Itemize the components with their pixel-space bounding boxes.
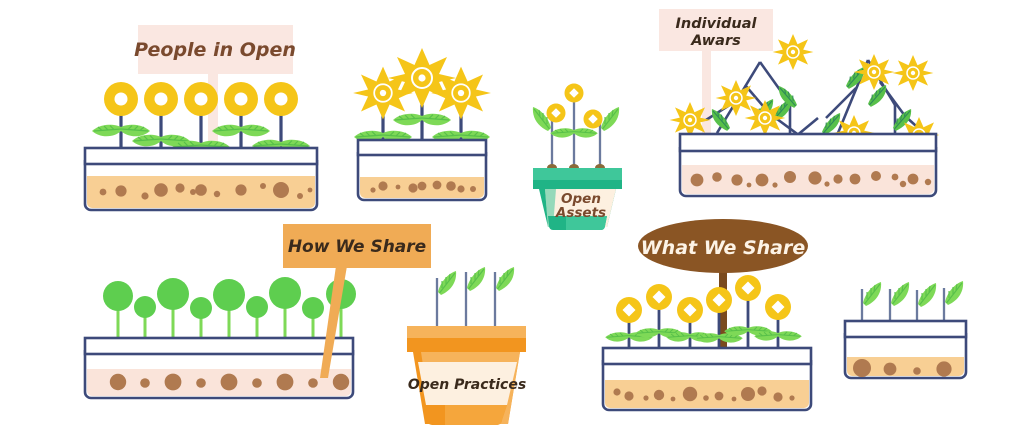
label-text-people-in-open: People in Open (134, 39, 296, 61)
scene-open-assets-pot: Open Assets (533, 84, 622, 231)
bed-box-people-in-open (85, 148, 317, 210)
scene-people-in-open: People in Open (85, 25, 317, 210)
scene-open-practices-pot: Open Practices (407, 267, 526, 425)
leaves-open-practices (438, 267, 514, 295)
bed-box-individual-awars (680, 134, 936, 196)
label-text-individual-awars-line1: Individual (676, 16, 758, 32)
bed-box-small (845, 321, 966, 378)
scene-how-we-share: How We Share (85, 224, 431, 398)
illustration-canvas: People in Open (0, 0, 1024, 439)
scene-small-sprout-bed (845, 281, 966, 378)
bed-box-star (358, 140, 486, 200)
flowers-people-in-open (104, 82, 298, 116)
label-what-we-share: What We Share (638, 219, 808, 273)
leaves-small-bed (863, 281, 963, 307)
leaves-open-assets (533, 107, 619, 138)
label-text-what-we-share: What We Share (641, 237, 806, 259)
label-individual-awars: Individual Awars (659, 9, 773, 51)
pot-open-assets: Open Assets (533, 168, 622, 230)
label-text-individual-awars-line2: Awars (690, 33, 741, 49)
flowers-what-we-share (616, 275, 791, 323)
label-text-open-practices: Open Practices (408, 377, 526, 393)
scene-what-we-share: What We Share (603, 219, 811, 410)
scene-star-flower-bed (353, 48, 491, 200)
bed-box-what-we-share (603, 348, 811, 410)
scene-individual-awars: Individual Awars (659, 9, 939, 196)
leaves-what-we-share (605, 326, 802, 342)
bed-box-how-we-share (85, 338, 353, 398)
label-text-how-we-share: How We Share (288, 237, 426, 257)
label-people-in-open: People in Open (134, 25, 296, 74)
label-text-open-assets-line2: Assets (555, 205, 606, 221)
pot-open-practices: Open Practices (407, 326, 526, 425)
